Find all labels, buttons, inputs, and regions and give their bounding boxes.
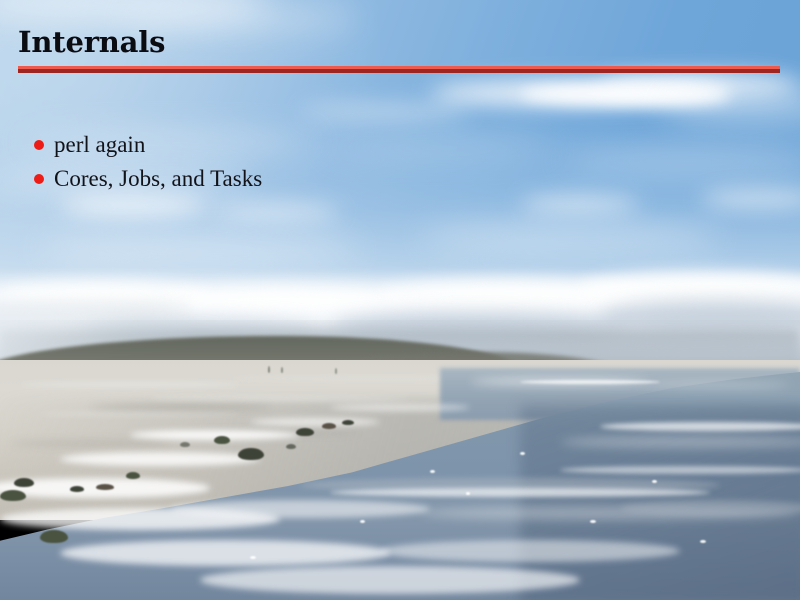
slide-title: Internals (18, 24, 165, 60)
list-item: perl again (34, 128, 734, 162)
bullet-list: perl again Cores, Jobs, and Tasks (34, 128, 734, 196)
title-divider-shadow (18, 69, 780, 73)
title-divider (18, 66, 780, 73)
list-item-label: perl again (54, 132, 145, 157)
bullet-dot-icon (34, 140, 44, 150)
slide: Internals perl again Cores, Jobs, and Ta… (0, 0, 800, 600)
list-item: Cores, Jobs, and Tasks (34, 162, 734, 196)
bullet-dot-icon (34, 174, 44, 184)
list-item-label: Cores, Jobs, and Tasks (54, 166, 262, 191)
slide-content: Internals perl again Cores, Jobs, and Ta… (0, 0, 800, 600)
